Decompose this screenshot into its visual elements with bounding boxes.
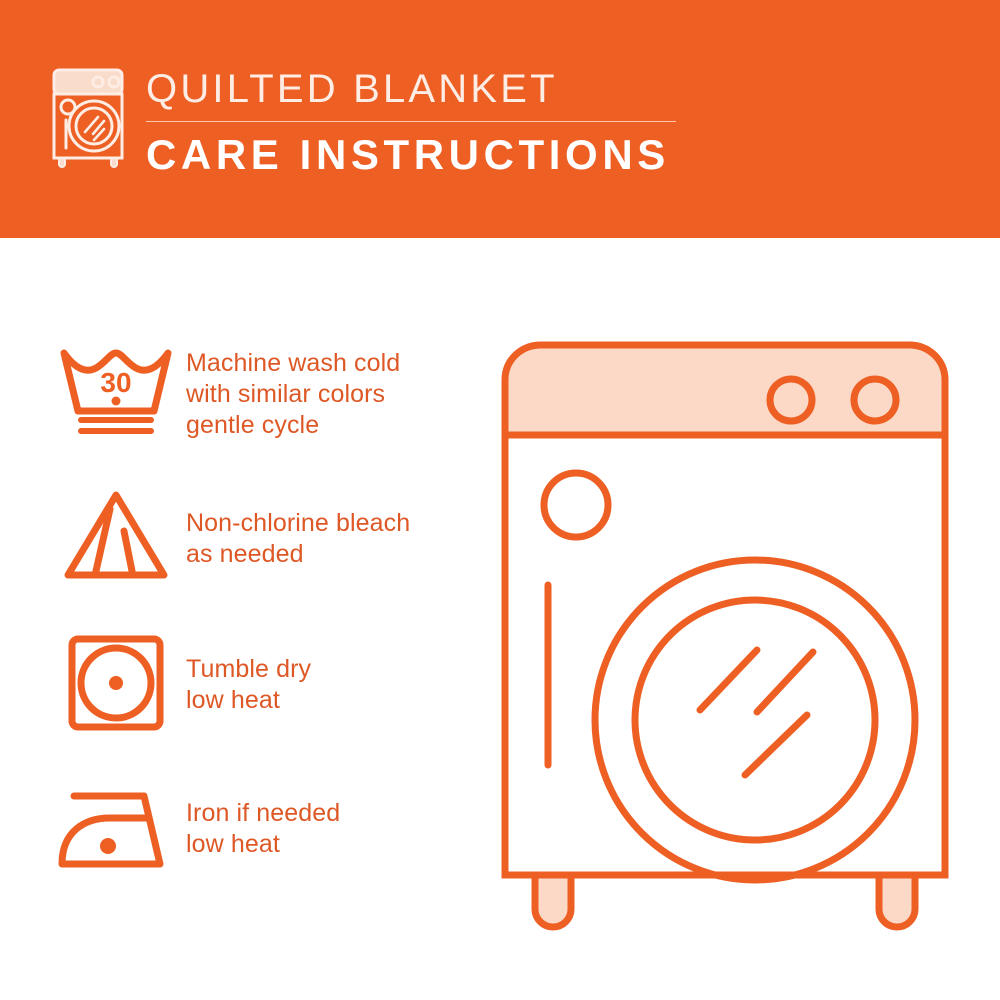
care-label-line: Iron if needed (186, 798, 476, 829)
care-label: Iron if needed low heat (186, 772, 476, 860)
care-label: Non-chlorine bleach as needed (186, 476, 476, 570)
care-symbol-wrapper (46, 476, 186, 594)
washing-machine-icon (46, 62, 134, 174)
care-label: Machine wash cold with similar colors ge… (186, 330, 476, 441)
care-symbol-wrapper (46, 624, 186, 742)
care-label-line: Tumble dry (186, 654, 476, 685)
machine-leg-left (535, 875, 571, 927)
non-chlorine-bleach-triangle-icon (58, 487, 174, 583)
care-label-line: low heat (186, 685, 476, 716)
care-row: Iron if needed low heat (46, 772, 476, 890)
care-label: Tumble dry low heat (186, 624, 476, 716)
care-label-line: Non-chlorine bleach (186, 508, 476, 539)
front-load-washing-machine-illustration (495, 335, 955, 935)
care-label-line: with similar colors (186, 379, 476, 410)
page-title-primary: QUILTED BLANKET (146, 66, 676, 112)
gentle-bar-1 (78, 417, 154, 423)
machine-leg-right (879, 875, 915, 927)
page-header: QUILTED BLANKET CARE INSTRUCTIONS (0, 0, 1000, 238)
page-title-secondary: CARE INSTRUCTIONS (146, 131, 676, 179)
care-row: Non-chlorine bleach as needed (46, 476, 476, 594)
dry-heat-dot (109, 676, 123, 690)
iron-heat-dot (100, 838, 116, 854)
care-symbol-wrapper (46, 772, 186, 890)
care-row: 30 Machine wash cold with similar colors… (46, 330, 476, 448)
gentle-bar-2 (78, 428, 154, 434)
care-label-line: Machine wash cold (186, 348, 476, 379)
care-row: Tumble dry low heat (46, 624, 476, 742)
care-label-line: gentle cycle (186, 410, 476, 441)
iron-low-heat-icon (56, 788, 176, 874)
tumble-dry-low-heat-icon (66, 633, 166, 733)
gentle-dot (112, 397, 121, 406)
machine-body (505, 435, 945, 875)
wash-temperature-label: 30 (100, 367, 131, 398)
care-label-line: low heat (186, 829, 476, 860)
care-instructions-list: 30 Machine wash cold with similar colors… (46, 330, 476, 890)
machine-wash-30-gentle-icon: 30 (54, 339, 178, 439)
header-title-block: QUILTED BLANKET CARE INSTRUCTIONS (146, 62, 676, 179)
header-content: QUILTED BLANKET CARE INSTRUCTIONS (46, 62, 676, 179)
care-label-line: as needed (186, 539, 476, 570)
title-divider (146, 121, 676, 122)
care-symbol-wrapper: 30 (46, 330, 186, 448)
